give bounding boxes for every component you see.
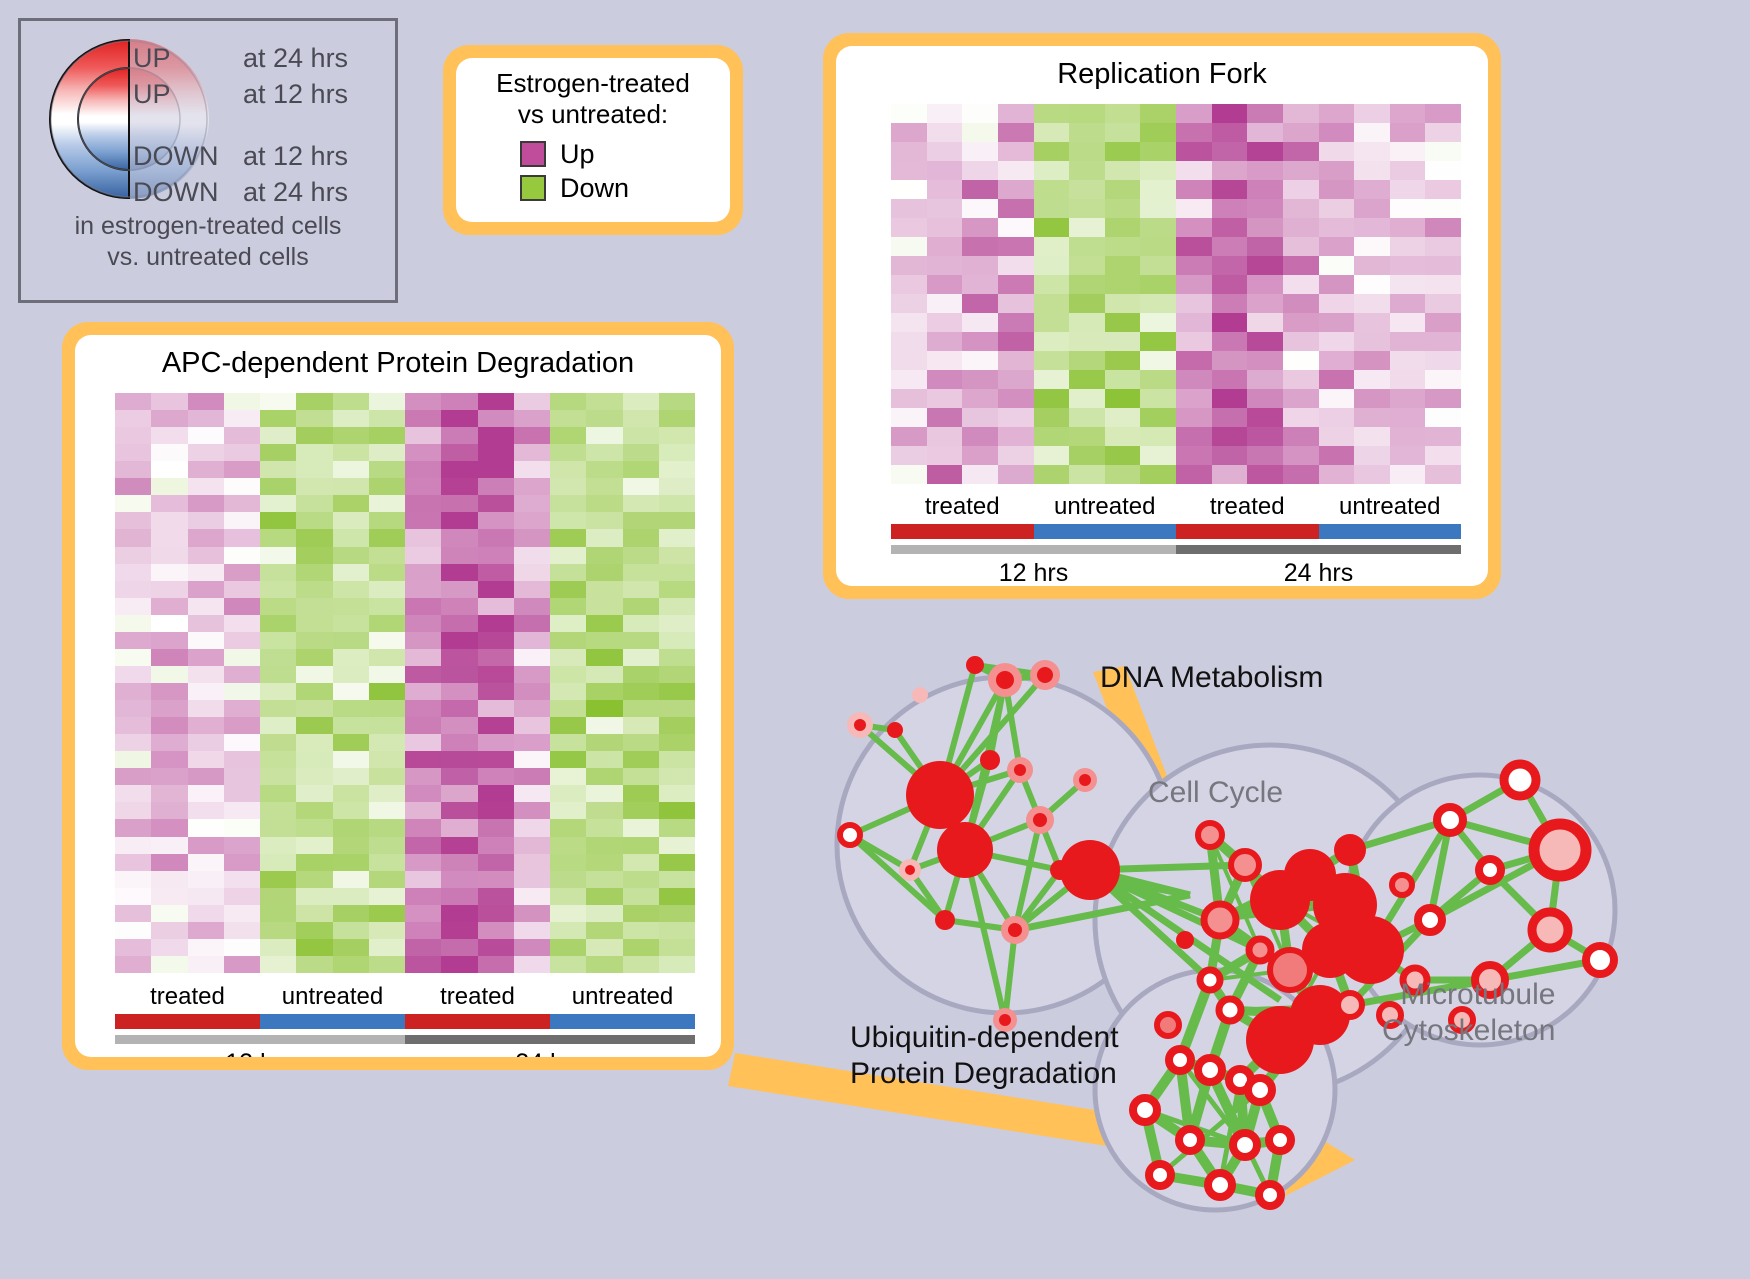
heatmap-cell	[478, 598, 514, 615]
bar-24hrs	[405, 1035, 695, 1044]
condition-label: untreated	[550, 983, 695, 1011]
heatmap-cell	[891, 446, 927, 465]
heatmap-cell	[623, 956, 659, 973]
heatmap-cell	[623, 444, 659, 461]
heatmap-cell	[998, 275, 1034, 294]
condition-color-bar	[891, 524, 1461, 539]
heatmap-cell	[260, 751, 296, 768]
heatmap-cell	[550, 768, 586, 785]
timepoint-label: 24 hrs	[405, 1049, 695, 1057]
heatmap-cell	[369, 547, 405, 564]
heatmap-cell	[1176, 256, 1212, 275]
heatmap-cell	[1354, 294, 1390, 313]
heatmap-cell	[659, 871, 695, 888]
heatmap-cell	[188, 683, 224, 700]
heatmap-cell	[962, 370, 998, 389]
heatmap-cell	[478, 734, 514, 751]
heatmap-cell	[333, 700, 369, 717]
condition-label: untreated	[1034, 493, 1177, 521]
heatmap-cell	[550, 871, 586, 888]
heatmap-cell	[1247, 218, 1283, 237]
heatmap-cell	[151, 649, 187, 666]
heatmap-cell	[891, 161, 927, 180]
heatmap-cell	[586, 683, 622, 700]
heatmap-cell	[224, 888, 260, 905]
heatmap-cell	[224, 512, 260, 529]
heatmap-cell	[1390, 104, 1426, 123]
heatmap-cell	[478, 529, 514, 546]
heatmap-cell	[659, 495, 695, 512]
heatmap-cell	[296, 922, 332, 939]
heatmap-cell	[1069, 351, 1105, 370]
heatmap-cell	[369, 478, 405, 495]
heatmap-cell	[1105, 199, 1141, 218]
key-time: at 24 hrs	[243, 43, 348, 74]
heatmap-cell	[1069, 237, 1105, 256]
heatmap-cell	[1247, 332, 1283, 351]
heatmap-cell	[1247, 446, 1283, 465]
heatmap-cell	[586, 410, 622, 427]
heatmap-cell	[998, 446, 1034, 465]
heatmap-cell	[441, 649, 477, 666]
heatmap-cell	[891, 294, 927, 313]
heatmap-cell	[1247, 180, 1283, 199]
heatmap-grid	[115, 393, 695, 973]
heatmap-cell	[659, 700, 695, 717]
heatmap-cell	[927, 351, 963, 370]
heatmap-cell	[369, 598, 405, 615]
heatmap-cell	[224, 871, 260, 888]
heatmap-cell	[224, 700, 260, 717]
heatmap-cell	[586, 649, 622, 666]
heatmap-cell	[188, 615, 224, 632]
heatmap-cell	[623, 683, 659, 700]
heatmap-cell	[1425, 180, 1461, 199]
heatmap-cell	[333, 393, 369, 410]
heatmap-cell	[1390, 275, 1426, 294]
color-legend-panel: Estrogen-treated vs untreated: Up Down	[443, 45, 743, 235]
heatmap-cell	[1354, 237, 1390, 256]
heatmap-cell	[369, 461, 405, 478]
heatmap-cell	[550, 495, 586, 512]
heatmap-cell	[478, 751, 514, 768]
heatmap-cell	[478, 854, 514, 871]
heatmap-cell	[260, 581, 296, 598]
heatmap-cell	[405, 751, 441, 768]
heatmap-cell	[1425, 294, 1461, 313]
heatmap-cell	[659, 768, 695, 785]
heatmap-cell	[1105, 408, 1141, 427]
heatmap-cell	[891, 218, 927, 237]
heatmap-cell	[1425, 313, 1461, 332]
color-legend-items: Up Down	[464, 137, 722, 205]
heatmap-cell	[1247, 408, 1283, 427]
heatmap-cell	[962, 332, 998, 351]
heatmap-cell	[1283, 218, 1319, 237]
heatmap-cell	[441, 410, 477, 427]
heatmap-cell	[224, 734, 260, 751]
heatmap-cell	[659, 598, 695, 615]
bar-untreated	[260, 1014, 405, 1029]
heatmap-cell	[369, 700, 405, 717]
heatmap-cell	[1283, 427, 1319, 446]
heatmap-cell	[296, 461, 332, 478]
heatmap-cell	[550, 478, 586, 495]
heatmap-cell	[1176, 313, 1212, 332]
heatmap-cell	[1319, 427, 1355, 446]
heatmap-cell	[1105, 142, 1141, 161]
heatmap-cell	[659, 547, 695, 564]
heatmap-cell	[441, 837, 477, 854]
condition-label: untreated	[260, 983, 405, 1011]
heatmap-cell	[151, 700, 187, 717]
heatmap-cell	[188, 461, 224, 478]
heatmap-cell	[927, 180, 963, 199]
heatmap-cell	[333, 785, 369, 802]
heatmap-cell	[441, 598, 477, 615]
heatmap-cell	[550, 854, 586, 871]
heatmap-cell	[1069, 180, 1105, 199]
heatmap-cell	[998, 237, 1034, 256]
heatmap-cell	[1105, 180, 1141, 199]
heatmap-cell	[1034, 465, 1070, 484]
heatmap-cell	[962, 256, 998, 275]
heatmap-cell	[1283, 389, 1319, 408]
label-microtubule-cytoskeleton: Microtubule Cytoskeleton	[1382, 977, 1555, 1049]
heatmap-cell	[623, 854, 659, 871]
heatmap-cell	[586, 632, 622, 649]
heatmap-cell	[1176, 123, 1212, 142]
heatmap-cell	[514, 785, 550, 802]
heatmap-cell	[927, 237, 963, 256]
heatmap-cell	[478, 649, 514, 666]
legend-item-up: Up	[520, 137, 722, 171]
heatmap-cell	[151, 905, 187, 922]
heatmap-cell	[927, 408, 963, 427]
heatmap-cell	[962, 237, 998, 256]
heatmap-cell	[1176, 161, 1212, 180]
heatmap-cell	[369, 564, 405, 581]
heatmap-cell	[1034, 294, 1070, 313]
heatmap-cell	[333, 478, 369, 495]
heatmap-cell	[260, 837, 296, 854]
heatmap-cell	[550, 581, 586, 598]
heatmap-cell	[891, 256, 927, 275]
heatmap-cell	[1425, 408, 1461, 427]
heatmap-cell	[927, 465, 963, 484]
key-row-up-24: UP at 24 hrs	[133, 43, 393, 79]
heatmap-cell	[514, 427, 550, 444]
heatmap-cell	[1319, 104, 1355, 123]
heatmap-cell	[1319, 294, 1355, 313]
heatmap-cell	[115, 939, 151, 956]
heatmap-cell	[296, 734, 332, 751]
heatmap-cell	[188, 495, 224, 512]
heatmap-cell	[478, 427, 514, 444]
heatmap-cell	[1390, 256, 1426, 275]
heatmap-cell	[550, 529, 586, 546]
heatmap-cell	[405, 564, 441, 581]
heatmap-cell	[1390, 161, 1426, 180]
heatmap-cell	[1283, 237, 1319, 256]
heatmap-cell	[1140, 389, 1176, 408]
heatmap-cell	[151, 632, 187, 649]
heatmap-cell	[224, 649, 260, 666]
heatmap-cell	[1069, 142, 1105, 161]
heatmap-cell	[1176, 218, 1212, 237]
key-time: at 12 hrs	[243, 79, 348, 110]
heatmap-cell	[891, 104, 927, 123]
heatmap-cell	[1034, 123, 1070, 142]
condition-label: treated	[891, 493, 1034, 521]
heatmap-cell	[1354, 123, 1390, 142]
expression-key-box: UP at 24 hrs UP at 12 hrs DOWN at 12 hrs…	[18, 18, 398, 303]
heatmap-cell	[623, 410, 659, 427]
heatmap-cell	[1140, 465, 1176, 484]
heatmap-cell	[1319, 275, 1355, 294]
heatmap-cell	[441, 529, 477, 546]
heatmap-cell	[586, 905, 622, 922]
heatmap-cell	[1034, 313, 1070, 332]
heatmap-cell	[151, 444, 187, 461]
heatmap-cell	[623, 939, 659, 956]
heatmap-cell	[623, 785, 659, 802]
heatmap-cell	[405, 837, 441, 854]
heatmap-cell	[441, 888, 477, 905]
heatmap-cell	[1354, 408, 1390, 427]
heatmap-cell	[962, 142, 998, 161]
heatmap-cell	[369, 768, 405, 785]
heatmap-cell	[927, 142, 963, 161]
heatmap-cell	[224, 461, 260, 478]
heatmap-cell	[550, 632, 586, 649]
heatmap-cell	[659, 512, 695, 529]
heatmap-cell	[1319, 351, 1355, 370]
heatmap-cell	[1176, 465, 1212, 484]
heatmap-cell	[296, 478, 332, 495]
heatmap-cell	[586, 598, 622, 615]
heatmap-cell	[623, 598, 659, 615]
heatmap-cell	[260, 444, 296, 461]
heatmap-cell	[333, 837, 369, 854]
heatmap-cell	[478, 547, 514, 564]
heatmap-cell	[891, 332, 927, 351]
heatmap-cell	[260, 478, 296, 495]
heatmap-cell	[441, 785, 477, 802]
heatmap-cell	[1354, 218, 1390, 237]
heatmap-cell	[1390, 351, 1426, 370]
heatmap-cell	[1069, 389, 1105, 408]
heatmap-cell	[659, 683, 695, 700]
heatmap-cell	[405, 956, 441, 973]
heatmap-cell	[623, 427, 659, 444]
heatmap-cell	[405, 700, 441, 717]
heatmap-cell	[405, 512, 441, 529]
up-color-swatch	[520, 141, 546, 167]
heatmap-cell	[151, 529, 187, 546]
heatmap-cell	[441, 939, 477, 956]
heatmap-cell	[550, 751, 586, 768]
timepoint-label: 12 hrs	[115, 1049, 405, 1057]
heatmap-cell	[891, 427, 927, 446]
heatmap-cell	[260, 854, 296, 871]
heatmap-cell	[405, 632, 441, 649]
heatmap-cell	[586, 734, 622, 751]
heatmap-cell	[623, 837, 659, 854]
heatmap-cell	[1176, 389, 1212, 408]
heatmap-cell	[224, 785, 260, 802]
heatmap-cell	[296, 751, 332, 768]
heatmap-cell	[1212, 351, 1248, 370]
heatmap-cell	[586, 939, 622, 956]
heatmap-cell	[333, 581, 369, 598]
heatmap-cell	[115, 649, 151, 666]
heatmap-cell	[369, 819, 405, 836]
heatmap-cell	[962, 446, 998, 465]
replication-fork-inner: Replication Fork treated untreated treat…	[836, 46, 1488, 586]
heatmap-cell	[224, 444, 260, 461]
heatmap-cell	[659, 581, 695, 598]
heatmap-cell	[224, 478, 260, 495]
heatmap-cell	[405, 666, 441, 683]
heatmap-cell	[333, 802, 369, 819]
heatmap-cell	[586, 547, 622, 564]
heatmap-cell	[550, 734, 586, 751]
heatmap-cell	[115, 598, 151, 615]
heatmap-cell	[586, 768, 622, 785]
heatmap-cell	[333, 632, 369, 649]
heatmap-cell	[514, 717, 550, 734]
heatmap-cell	[441, 751, 477, 768]
heatmap-cell	[1069, 332, 1105, 351]
heatmap-cell	[1390, 408, 1426, 427]
heatmap-cell	[586, 785, 622, 802]
heatmap-cell	[441, 905, 477, 922]
key-caption-line2: vs. untreated cells	[21, 242, 395, 273]
heatmap-cell	[659, 564, 695, 581]
heatmap-cell	[333, 922, 369, 939]
heatmap-cell	[441, 615, 477, 632]
heatmap-cell	[1390, 313, 1426, 332]
heatmap-cell	[1140, 332, 1176, 351]
heatmap-cell	[550, 785, 586, 802]
heatmap-cell	[1283, 275, 1319, 294]
heatmap-cell	[550, 956, 586, 973]
heatmap-cell	[659, 802, 695, 819]
network-graph	[790, 620, 1750, 1279]
heatmap-cell	[998, 389, 1034, 408]
heatmap-cell	[405, 785, 441, 802]
heatmap-cell	[333, 751, 369, 768]
heatmap-cell	[1283, 313, 1319, 332]
heatmap-cell	[115, 529, 151, 546]
heatmap-cell	[1319, 199, 1355, 218]
heatmap-cell	[514, 615, 550, 632]
heatmap-cell	[927, 275, 963, 294]
heatmap-cell	[478, 461, 514, 478]
heatmap-cell	[891, 313, 927, 332]
heatmap-cell	[115, 905, 151, 922]
heatmap-cell	[1283, 294, 1319, 313]
heatmap-cell	[659, 854, 695, 871]
key-tag: DOWN	[133, 177, 243, 208]
heatmap-cell	[1425, 104, 1461, 123]
heatmap-cell	[115, 427, 151, 444]
heatmap-cell	[333, 956, 369, 973]
heatmap-cell	[1176, 199, 1212, 218]
heatmap-cell	[369, 632, 405, 649]
heatmap-cell	[514, 819, 550, 836]
heatmap-cell	[623, 615, 659, 632]
heatmap-cell	[151, 547, 187, 564]
heatmap-cell	[115, 512, 151, 529]
heatmap-cell	[369, 512, 405, 529]
heatmap-cell	[514, 871, 550, 888]
heatmap-cell	[478, 785, 514, 802]
heatmap-cell	[586, 666, 622, 683]
heatmap-cell	[1247, 161, 1283, 180]
heatmap-cell	[1140, 237, 1176, 256]
heatmap-cell	[1212, 465, 1248, 484]
heatmap-cell	[1069, 446, 1105, 465]
heatmap-cell	[1176, 294, 1212, 313]
apc-degradation-inner: APC-dependent Protein Degradation treate…	[75, 335, 721, 1057]
heatmap-cell	[550, 444, 586, 461]
heatmap-cell	[1176, 408, 1212, 427]
heatmap-cell	[115, 632, 151, 649]
heatmap-cell	[998, 256, 1034, 275]
heatmap-cell	[260, 802, 296, 819]
replication-fork-title: Replication Fork	[836, 46, 1488, 91]
heatmap-cell	[586, 956, 622, 973]
heatmap-cell	[188, 734, 224, 751]
heatmap-cell	[1140, 351, 1176, 370]
heatmap-cell	[115, 922, 151, 939]
heatmap-cell	[550, 922, 586, 939]
bar-24hrs	[1176, 545, 1461, 554]
heatmap-cell	[115, 393, 151, 410]
heatmap-cell	[1212, 142, 1248, 161]
heatmap-cell	[1176, 446, 1212, 465]
heatmap-cell	[586, 529, 622, 546]
heatmap-cell	[586, 854, 622, 871]
heatmap-cell	[405, 905, 441, 922]
heatmap-cell	[1140, 313, 1176, 332]
heatmap-cell	[1283, 123, 1319, 142]
heatmap-cell	[1354, 313, 1390, 332]
heatmap-cell	[962, 104, 998, 123]
heatmap-cell	[260, 495, 296, 512]
color-legend-inner: Estrogen-treated vs untreated: Up Down	[456, 58, 730, 222]
heatmap-cell	[369, 956, 405, 973]
heatmap-cell	[188, 905, 224, 922]
heatmap-cell	[369, 529, 405, 546]
heatmap-cell	[188, 632, 224, 649]
heatmap-cell	[1319, 370, 1355, 389]
heatmap-cell	[224, 683, 260, 700]
heatmap-cell	[115, 734, 151, 751]
heatmap-cell	[1390, 180, 1426, 199]
heatmap-cell	[891, 199, 927, 218]
heatmap-cell	[188, 717, 224, 734]
heatmap-cell	[514, 529, 550, 546]
heatmap-cell	[188, 649, 224, 666]
heatmap-cell	[151, 683, 187, 700]
heatmap-cell	[369, 802, 405, 819]
heatmap-cell	[998, 332, 1034, 351]
heatmap-cell	[1354, 275, 1390, 294]
heatmap-cell	[441, 956, 477, 973]
